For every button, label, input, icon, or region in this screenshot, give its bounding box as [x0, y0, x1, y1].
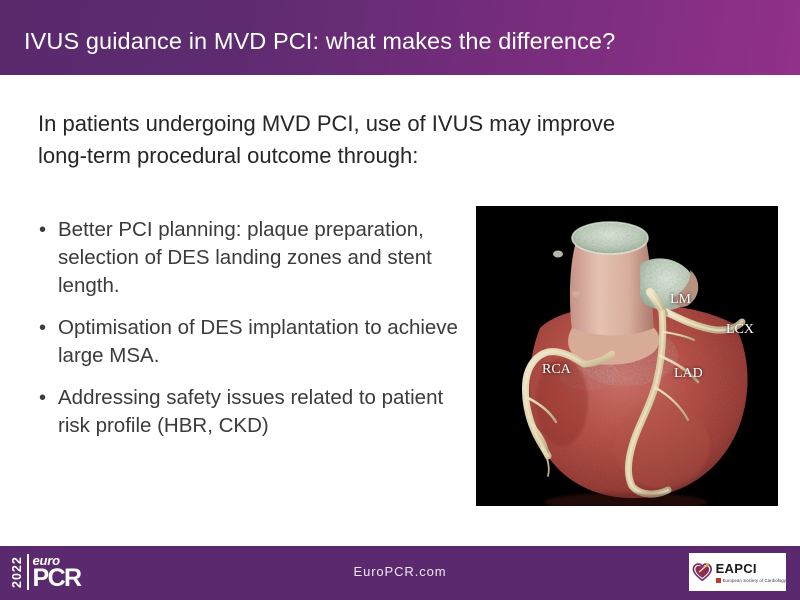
esc-square-icon — [716, 578, 721, 583]
footer-url-text: EuroPCR.com — [0, 564, 800, 579]
bullet-icon: • — [39, 314, 46, 342]
heart-3d-render — [476, 206, 778, 506]
eapci-society-text: European Society of Cardiology — [723, 578, 786, 583]
intro-paragraph: In patients undergoing MVD PCI, use of I… — [38, 108, 648, 172]
page-title: IVUS guidance in MVD PCI: what makes the… — [24, 28, 615, 55]
eapci-text-block: EAPCI European Society of Cardiology — [716, 562, 786, 583]
list-item-label: Optimisation of DES implantation to achi… — [58, 316, 458, 367]
slide-header-bar: IVUS guidance in MVD PCI: what makes the… — [0, 0, 800, 75]
eapci-heart-catheter-icon — [692, 557, 713, 587]
eapci-logo: EAPCI European Society of Cardiology — [689, 553, 786, 591]
list-item: • Better PCI planning: plaque preparatio… — [36, 216, 468, 300]
bullet-icon: • — [39, 216, 46, 244]
list-item-label: Addressing safety issues related to pati… — [58, 386, 443, 437]
list-item-label: Better PCI planning: plaque preparation,… — [58, 218, 432, 297]
cardiac-ct-image: LM LCX LAD RCA — [476, 206, 778, 506]
key-points-list: • Better PCI planning: plaque preparatio… — [36, 216, 468, 454]
bullet-icon: • — [39, 384, 46, 412]
list-item: • Addressing safety issues related to pa… — [36, 384, 468, 440]
eapci-society-line: European Society of Cardiology — [716, 578, 786, 583]
list-item: • Optimisation of DES implantation to ac… — [36, 314, 468, 370]
eapci-name-text: EAPCI — [716, 562, 786, 576]
